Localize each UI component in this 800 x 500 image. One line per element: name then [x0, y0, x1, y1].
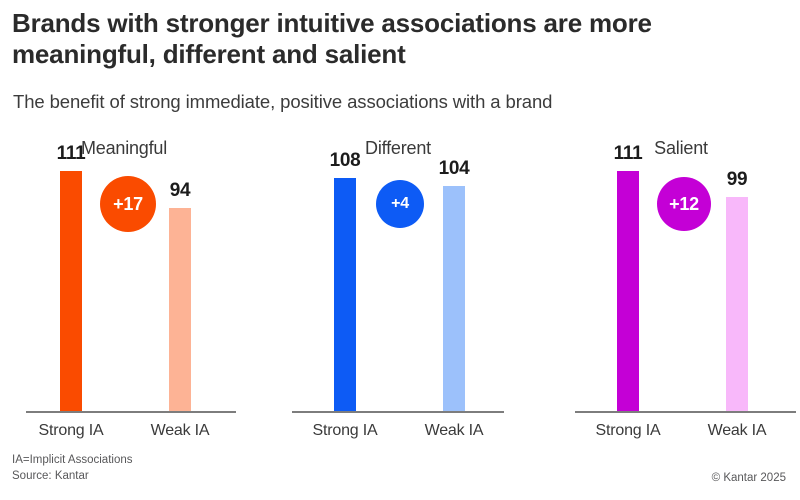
footnote-source: Source: Kantar [12, 468, 132, 484]
bar-column[interactable]: 99Weak IA [726, 130, 748, 411]
bar-column[interactable]: 94Weak IA [169, 130, 191, 411]
bar-value-label: 94 [170, 180, 191, 202]
plot-area: 111Strong IA99Weak IA [565, 130, 797, 411]
axis-baseline [575, 411, 796, 413]
plot-area: 108Strong IA104Weak IA [282, 130, 514, 411]
bar[interactable] [334, 178, 356, 411]
bar-column[interactable]: 108Strong IA [334, 130, 356, 411]
bar-value-label: 99 [727, 169, 748, 191]
bar[interactable] [443, 186, 465, 411]
category-label: Weak IA [708, 422, 767, 440]
bar[interactable] [726, 197, 748, 411]
bar-group-different: Different+4108Strong IA104Weak IA [282, 130, 514, 450]
axis-baseline [26, 411, 236, 413]
bar-column[interactable]: 111Strong IA [60, 130, 82, 411]
plot-area: 111Strong IA94Weak IA [8, 130, 240, 411]
bar-group-meaningful: Meaningful+17111Strong IA94Weak IA [8, 130, 240, 450]
bar[interactable] [169, 208, 191, 411]
category-label: Weak IA [425, 422, 484, 440]
copyright-notice: © Kantar 2025 [712, 472, 786, 484]
category-label: Strong IA [39, 422, 104, 440]
footnotes: IA=Implicit Associations Source: Kantar [12, 452, 132, 484]
bar-value-label: 111 [57, 143, 86, 165]
bar[interactable] [60, 171, 82, 411]
footnote-ia-definition: IA=Implicit Associations [12, 452, 132, 468]
bar-column[interactable]: 111Strong IA [617, 130, 639, 411]
page-title: Brands with stronger intuitive associati… [12, 8, 752, 70]
bar-chart-groups: Meaningful+17111Strong IA94Weak IADiffer… [0, 130, 800, 450]
bar[interactable] [617, 171, 639, 411]
category-label: Strong IA [596, 422, 661, 440]
chart-page: Brands with stronger intuitive associati… [0, 0, 800, 500]
category-label: Strong IA [313, 422, 378, 440]
category-label: Weak IA [151, 422, 210, 440]
bar-value-label: 104 [439, 158, 470, 180]
page-subtitle: The benefit of strong immediate, positiv… [13, 90, 773, 114]
bar-value-label: 108 [330, 150, 361, 172]
bar-column[interactable]: 104Weak IA [443, 130, 465, 411]
axis-baseline [292, 411, 504, 413]
bar-value-label: 111 [614, 143, 643, 165]
bar-group-salient: Salient+12111Strong IA99Weak IA [565, 130, 797, 450]
